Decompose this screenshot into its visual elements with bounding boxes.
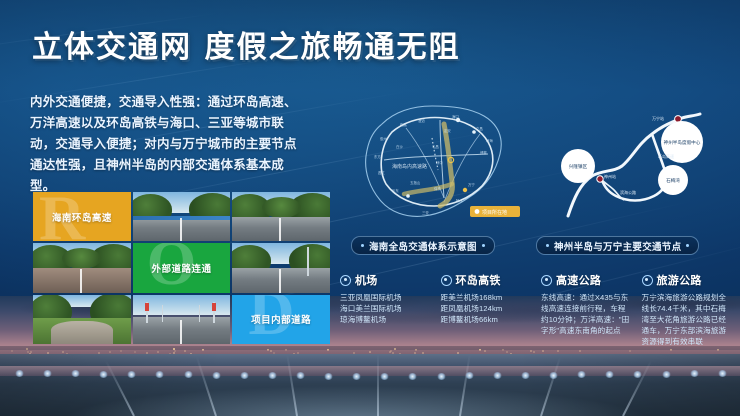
svg-text:琼中: 琼中 xyxy=(436,160,443,165)
rail-dotted xyxy=(432,138,438,170)
grid-photo-treelined-road-2 xyxy=(232,243,330,292)
bullet-icon xyxy=(441,275,452,286)
info-line: 距美兰机场168km xyxy=(441,292,532,303)
info-column-body: 三亚凤凰国际机场 海口美兰国际机场 琼海博鳌机场 xyxy=(340,292,431,325)
grid-tile-label: 海南环岛高速 xyxy=(33,210,131,224)
map-node-project xyxy=(463,188,467,192)
grid-photo-treelined-road-1 xyxy=(232,192,330,241)
svg-text:保亭: 保亭 xyxy=(434,186,441,191)
highway-sheen xyxy=(0,354,740,416)
caption-dot-left xyxy=(361,244,364,247)
svg-text:兴隆镇区: 兴隆镇区 xyxy=(569,163,588,170)
svg-text:滨海公路: 滨海公路 xyxy=(620,189,636,195)
info-column-body: 距美兰机场168km 距凤凰机场124km 距博鳌机场66km xyxy=(441,292,532,325)
info-column-header: 旅游公路 xyxy=(642,272,733,288)
svg-text:临高: 临高 xyxy=(400,122,407,127)
slide-root: 立体交通网 度假之旅畅通无阻 立体交通网 度假之旅畅通无阻 内外交通便捷，交通导… xyxy=(0,0,740,416)
svg-text:儋州: 儋州 xyxy=(380,136,387,141)
info-column-highspeed-rail: 环岛高铁 距美兰机场168km 距凤凰机场124km 距博鳌机场66km xyxy=(441,272,532,347)
svg-text:万宁站: 万宁站 xyxy=(652,115,664,121)
grid-photo-street xyxy=(33,243,131,292)
map-hainan-island[interactable]: 海口 文昌 琼海 博鳌 万宁 陵水 三亚 东方 儋州 临高 澄迈 定安 屯昌 琼… xyxy=(348,98,526,230)
info-column-airport: 机场 三亚凤凰国际机场 海口美兰国际机场 琼海博鳌机场 xyxy=(340,272,431,347)
svg-text:博鳌: 博鳌 xyxy=(480,150,487,155)
photo-street xyxy=(33,243,131,292)
info-column-header: 环岛高铁 xyxy=(441,272,532,288)
photo-boulevard xyxy=(133,295,231,344)
grid-photo-garden-path xyxy=(33,295,131,344)
info-line: 东线高速：通过X435与东线高速连接前行程，车程约10分钟；万洋高速："田字形"… xyxy=(541,292,632,336)
grid-tile-label: 项目内部道路 xyxy=(232,312,330,326)
info-column-title: 旅游公路 xyxy=(657,272,702,288)
svg-text:白沙: 白沙 xyxy=(396,144,403,149)
map-wanning-svg: 兴隆镇区 神州半岛度假中心 石梅湾 万宁站 神州站 环岛高速 滨海公路 xyxy=(540,98,726,230)
highlight-corridor-sw xyxy=(404,184,452,194)
page-title: 立体交通网 度假之旅畅通无阻 xyxy=(32,22,460,66)
grid-photo-expressway xyxy=(133,192,231,241)
info-column-tourism-road: 旅游公路 万宁滨海旅游公路规划全线长74.4千米，其中石梅湾至大花角旅游公路已经… xyxy=(642,272,733,347)
info-column-expressway: 高速公路 东线高速：通过X435与东线高速连接前行程，车程约10分钟；万洋高速：… xyxy=(541,272,632,347)
grid-photo-boulevard xyxy=(133,295,231,344)
map-caption-hainan-text: 海南全岛交通体系示意图 xyxy=(369,239,477,253)
svg-text:屯昌: 屯昌 xyxy=(432,144,439,149)
grid-tile-hainan-expressway: R 海南环岛高速 xyxy=(33,192,131,241)
photo-treelined-road-2 xyxy=(232,243,330,292)
svg-text:万宁: 万宁 xyxy=(468,182,475,187)
island-outline xyxy=(366,106,502,216)
svg-text:神州半岛度假中心: 神州半岛度假中心 xyxy=(664,139,701,146)
info-line: 琼海博鳌机场 xyxy=(340,314,431,325)
map-inner-title: 海南岛内高速路 xyxy=(392,163,427,170)
svg-text:澄迈: 澄迈 xyxy=(418,118,425,123)
caption-dot-right xyxy=(686,244,689,247)
bullet-icon xyxy=(340,275,351,286)
road-main-branch xyxy=(682,114,700,118)
grid-tile-external-road-connection: O 外部道路连通 xyxy=(133,243,231,292)
svg-text:石梅湾: 石梅湾 xyxy=(666,177,680,184)
map-caption-wanning: 神州半岛与万宁主要交通节点 xyxy=(536,236,699,255)
caption-dot-right xyxy=(482,244,485,247)
map-caption-hainan: 海南全岛交通体系示意图 xyxy=(351,236,495,255)
photo-treelined-road-1 xyxy=(232,192,330,241)
info-column-title: 高速公路 xyxy=(556,272,601,288)
svg-text:陵水: 陵水 xyxy=(456,198,463,203)
info-column-header: 高速公路 xyxy=(541,272,632,288)
svg-text:神州站: 神州站 xyxy=(604,173,616,179)
info-column-body: 万宁滨海旅游公路规划全线长74.4千米，其中石梅湾至大花角旅游公路已经通车，万宁… xyxy=(642,292,733,347)
grid-tile-label: 外部道路连通 xyxy=(133,261,231,275)
svg-text:东方: 东方 xyxy=(374,154,381,159)
svg-text:定安: 定安 xyxy=(444,128,451,133)
map-hainan-svg: 海口 文昌 琼海 博鳌 万宁 陵水 三亚 东方 儋州 临高 澄迈 定安 屯昌 琼… xyxy=(348,98,526,230)
map-caption-wanning-text: 神州半岛与万宁主要交通节点 xyxy=(554,239,681,253)
transport-info-columns: 机场 三亚凤凰国际机场 海口美兰国际机场 琼海博鳌机场 环岛高铁 距美兰机场16… xyxy=(340,272,732,347)
node-shenzhou-station xyxy=(597,176,603,182)
svg-text:琼海: 琼海 xyxy=(486,138,493,143)
svg-text:昌江: 昌江 xyxy=(378,170,385,175)
info-column-body: 东线高速：通过X435与东线高速连接前行程，车程约10分钟；万洋高速："田字形"… xyxy=(541,292,632,336)
info-column-header: 机场 xyxy=(340,272,431,288)
info-line: 距博鳌机场66km xyxy=(441,314,532,325)
map-node xyxy=(406,194,410,198)
photo-expressway xyxy=(133,192,231,241)
svg-text:项目所在地: 项目所在地 xyxy=(482,209,507,216)
bullet-icon xyxy=(642,275,653,286)
intro-paragraph: 内外交通便捷，交通导入性强：通过环岛高速、万洋高速以及环岛高铁与海口、三亚等城市… xyxy=(30,92,298,197)
info-line: 距凤凰机场124km xyxy=(441,303,532,314)
photo-grid: R 海南环岛高速 xyxy=(33,192,330,344)
svg-text:海口: 海口 xyxy=(452,114,459,119)
info-line: 海口美兰国际机场 xyxy=(340,303,431,314)
svg-text:五指山: 五指山 xyxy=(410,180,421,185)
svg-text:文昌: 文昌 xyxy=(476,126,483,131)
info-line: 万宁滨海旅游公路规划全线长74.4千米，其中石梅湾至大花角旅游公路已经通车，万宁… xyxy=(642,292,733,347)
photo-garden-path xyxy=(33,295,131,344)
caption-dot-left xyxy=(546,244,549,247)
map-legend: 项目所在地 xyxy=(470,206,520,217)
svg-text:三亚: 三亚 xyxy=(422,211,429,215)
svg-text:乐东: 乐东 xyxy=(392,188,399,193)
svg-text:环岛高速: 环岛高速 xyxy=(658,153,674,159)
map-wanning-nodes[interactable]: 兴隆镇区 神州半岛度假中心 石梅湾 万宁站 神州站 环岛高速 滨海公路 xyxy=(540,98,726,230)
info-column-title: 环岛高铁 xyxy=(456,272,501,288)
info-column-title: 机场 xyxy=(355,272,378,288)
bullet-icon xyxy=(541,275,552,286)
grid-tile-internal-road: D 项目内部道路 xyxy=(232,295,330,344)
info-line: 三亚凤凰国际机场 xyxy=(340,292,431,303)
